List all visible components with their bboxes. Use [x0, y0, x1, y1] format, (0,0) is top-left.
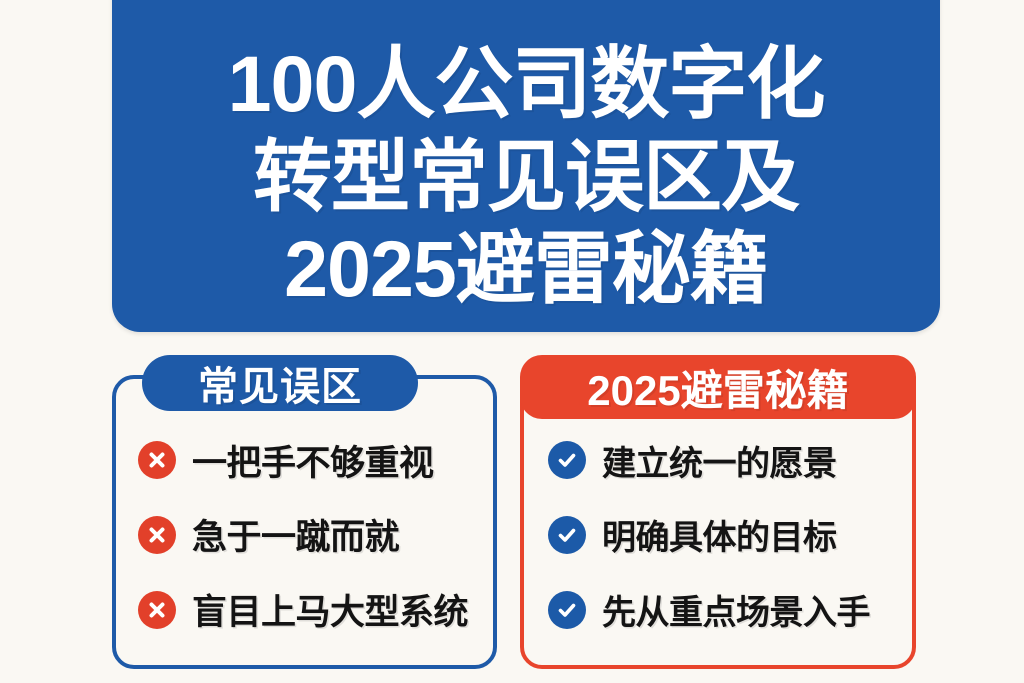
guide-header-pill: 2025避雷秘籍	[520, 355, 916, 419]
list-item: 先从重点场景入手	[524, 585, 912, 634]
check-circle-icon	[548, 591, 586, 629]
check-circle-icon	[548, 516, 586, 554]
list-item-label: 一把手不够重视	[192, 435, 434, 486]
pitfalls-card: 常见误区 一把手不够重视 急于一蹴而就	[112, 375, 497, 669]
list-item: 急于一蹴而就	[116, 509, 493, 560]
pitfalls-header-pill: 常见误区	[142, 355, 418, 411]
pitfalls-list: 一把手不够重视 急于一蹴而就 盲目上马大型系统	[116, 423, 493, 647]
list-item-label: 盲目上马大型系统	[192, 584, 468, 635]
comparison-columns: 常见误区 一把手不够重视 急于一蹴而就	[0, 352, 1024, 683]
guide-card: 2025避雷秘籍 建立统一的愿景 明确具体的目标	[520, 375, 916, 669]
cross-circle-icon	[138, 516, 176, 554]
list-item-label: 先从重点场景入手	[602, 585, 870, 634]
list-item-label: 急于一蹴而就	[192, 509, 399, 560]
guide-list: 建立统一的愿景 明确具体的目标 先从重点场景入手	[524, 423, 912, 647]
list-item: 建立统一的愿景	[524, 436, 912, 485]
title-line-1: 100人公司数字化	[130, 45, 922, 123]
cross-circle-icon	[138, 441, 176, 479]
list-item-label: 明确具体的目标	[602, 510, 837, 559]
cross-circle-icon	[138, 591, 176, 629]
check-circle-icon	[548, 441, 586, 479]
title-line-2: 转型常见误区及	[130, 138, 922, 216]
list-item-label: 建立统一的愿景	[602, 436, 837, 485]
list-item: 明确具体的目标	[524, 510, 912, 559]
title-banner: 100人公司数字化 转型常见误区及 2025避雷秘籍	[112, 0, 940, 332]
list-item: 盲目上马大型系统	[116, 584, 493, 635]
list-item: 一把手不够重视	[116, 435, 493, 486]
title-line-3: 2025避雷秘籍	[130, 230, 922, 308]
